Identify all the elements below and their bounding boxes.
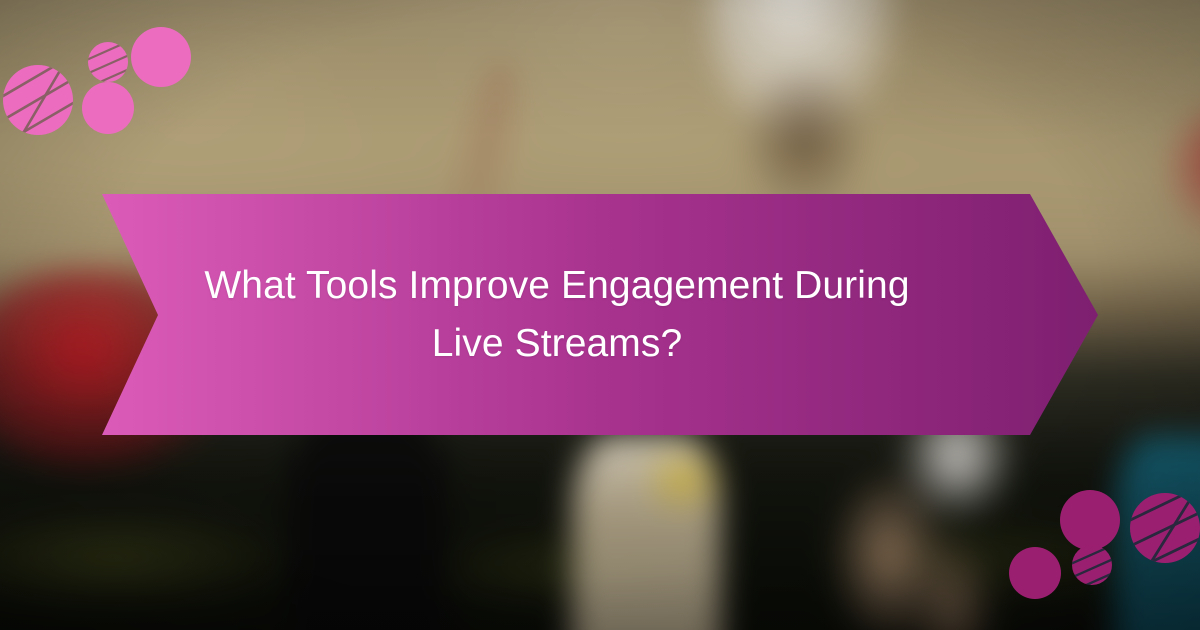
banner-text-wrap: What Tools Improve Engagement During Liv… [102,194,992,435]
deco-circle-striped-large [0,40,92,154]
pink-circle-cluster [0,0,210,150]
poster-canvas: What Tools Improve Engagement During Liv… [0,0,1200,630]
deco-circle-plain-small [82,82,134,134]
deco-circle-striped-large [1118,474,1200,580]
deco-circle-plain-large [131,27,191,87]
magenta-circle-cluster [1000,480,1200,630]
deco-circle-plain-small [1009,547,1061,599]
deco-circle-plain-large [1060,490,1120,550]
title-banner: What Tools Improve Engagement During Liv… [102,194,1098,435]
deco-circle-striped-small [1066,542,1120,594]
banner-title: What Tools Improve Engagement During Liv… [168,257,946,372]
